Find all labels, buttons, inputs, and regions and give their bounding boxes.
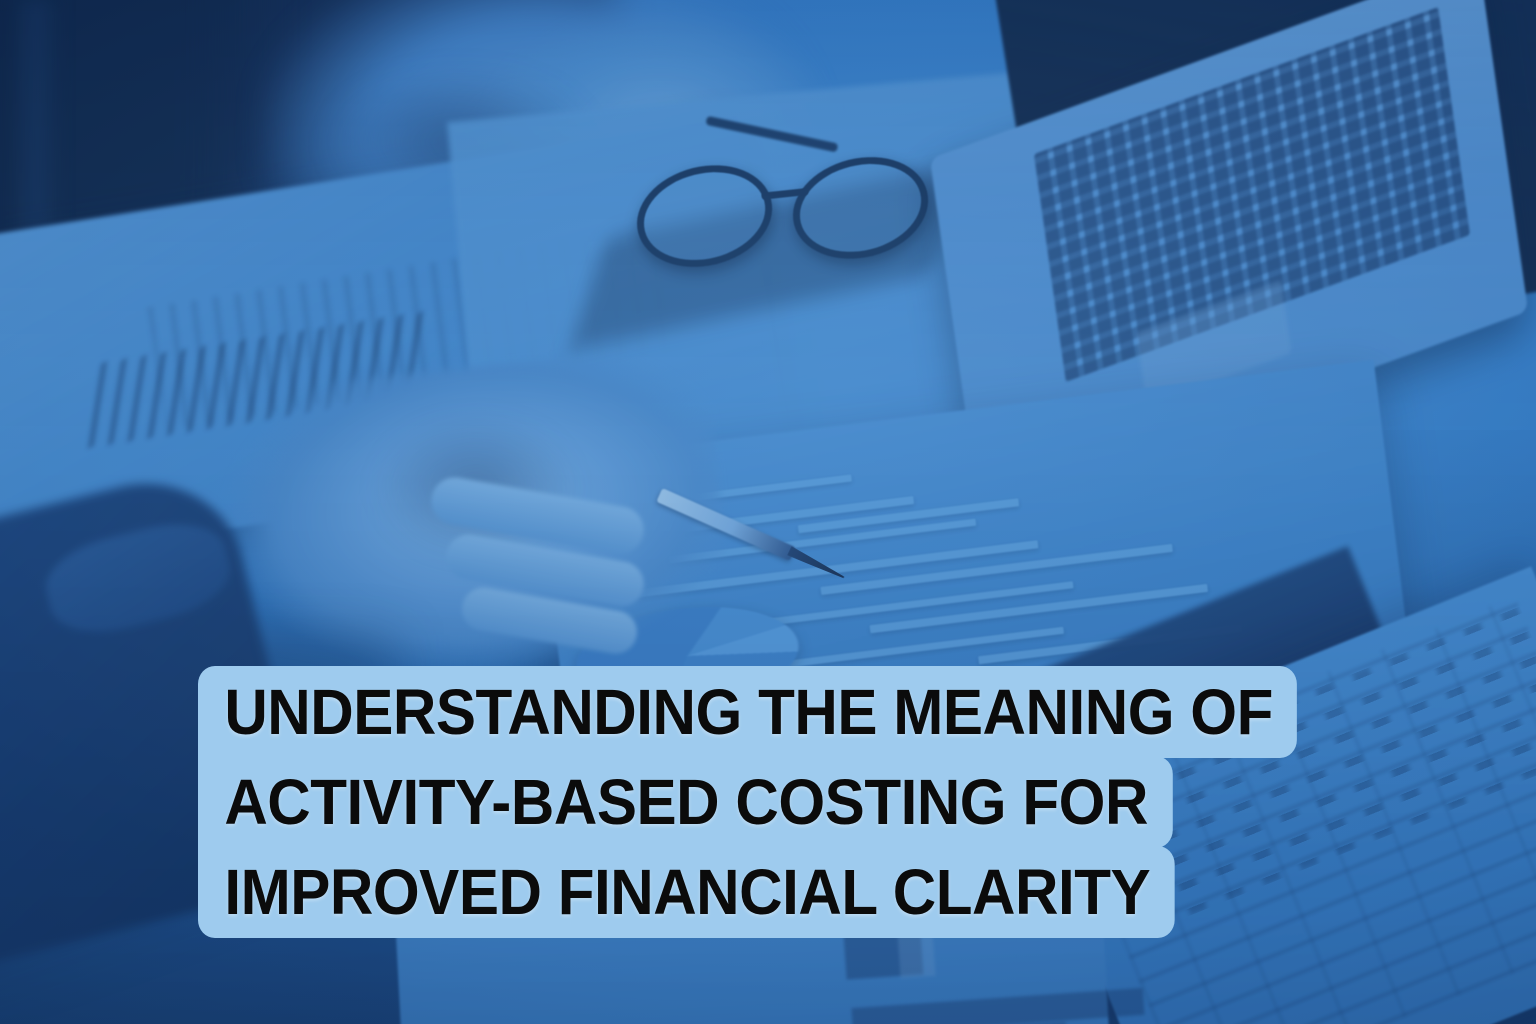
page-title: UNDERSTANDING THE MEANING OF ACTIVITY-BA… [198, 666, 1367, 938]
title-line-1: UNDERSTANDING THE MEANING OF [198, 666, 1297, 758]
title-line-2: ACTIVITY-BASED COSTING FOR [198, 756, 1172, 848]
title-line-3: IMPROVED FINANCIAL CLARITY [198, 846, 1175, 938]
article-hero-banner: UNDERSTANDING THE MEANING OF ACTIVITY-BA… [0, 0, 1536, 1024]
